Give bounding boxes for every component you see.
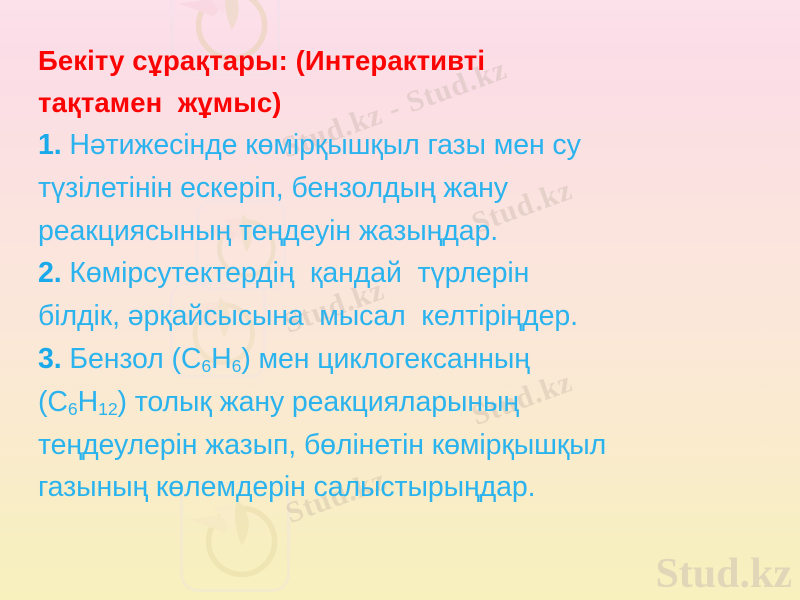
cyclohexane-hydrogen-symbol: H — [78, 386, 98, 418]
presentation-slide: Stud.kz - Stud.kz Stud.kz Stud.kz Stud.k… — [0, 0, 800, 600]
question-2-text-1: Көмірсутектердің қандай түрлерін — [62, 257, 530, 289]
question-1-line-1: 1. Нәтижесінде көмірқышқыл газы мен су — [38, 124, 774, 167]
cyclohexane-carbon-subscript: 6 — [68, 399, 78, 419]
question-2-number: 2. — [38, 257, 62, 289]
question-2-line-2: білдік, әрқайсысына мысал келтіріңдер. — [38, 295, 774, 338]
benzene-hydrogen-symbol: H — [211, 343, 231, 375]
benzene-carbon-subscript: 6 — [201, 356, 211, 376]
question-3-line-1: 3. Бензол (C6H6) мен циклогексанның — [38, 338, 774, 381]
question-2-line-1: 2. Көмірсутектердің қандай түрлерін — [38, 252, 774, 295]
watermark-brand: Stud.kz — [655, 550, 792, 598]
question-3-line-4: газының көлемдерін салыстырыңдар. — [38, 466, 774, 509]
question-3-text-3: (C — [38, 386, 68, 418]
question-1-text-1: Нәтижесінде көмірқышқыл газы мен су — [62, 129, 581, 161]
cyclohexane-hydrogen-subscript: 12 — [98, 399, 117, 419]
question-1-line-3: реакциясының теңдеуін жазыңдар. — [38, 210, 774, 253]
question-3-text-2: ) мен циклогексанның — [241, 343, 530, 375]
slide-body: Бекіту сұрақтары: (Интерактивті тақтамен… — [38, 40, 774, 509]
question-3-text-1: Бензол (C — [62, 343, 202, 375]
benzene-hydrogen-subscript: 6 — [232, 356, 242, 376]
question-1-number: 1. — [38, 129, 62, 161]
question-1-line-2: түзілетінін ескеріп, бензолдың жану — [38, 167, 774, 210]
page-title-line-1: Бекіту сұрақтары: (Интерактивті — [38, 40, 774, 82]
question-3-line-3: теңдеулерін жазып, бөлінетін көмірқышқыл — [38, 424, 774, 467]
question-3-text-4: ) толық жану реакцияларының — [118, 386, 519, 418]
question-3-number: 3. — [38, 343, 62, 375]
question-3-line-2: (C6H12) толық жану реакцияларының — [38, 381, 774, 424]
page-title-line-2: тақтамен жұмыс) — [38, 82, 774, 124]
